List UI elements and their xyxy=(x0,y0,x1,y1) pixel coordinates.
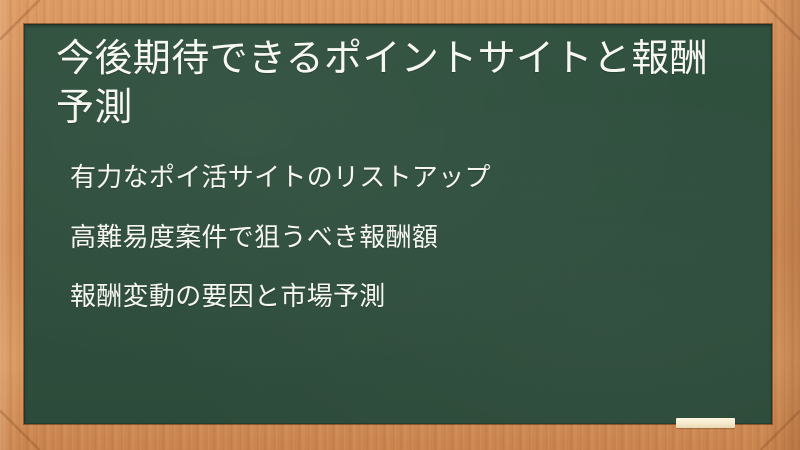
chalkboard-surface: 今後期待できるポイントサイトと報酬予測 有力なポイ活サイトのリストアップ 高難易… xyxy=(24,24,772,424)
slide-canvas: 今後期待できるポイントサイトと報酬予測 有力なポイ活サイトのリストアップ 高難易… xyxy=(0,0,800,450)
slide-title: 今後期待できるポイントサイトと報酬予測 xyxy=(36,34,746,133)
slide-content: 今後期待できるポイントサイトと報酬予測 有力なポイ活サイトのリストアップ 高難易… xyxy=(24,24,772,424)
list-item: 高難易度案件で狙うべき報酬額 xyxy=(70,223,746,255)
bullet-list: 有力なポイ活サイトのリストアップ 高難易度案件で狙うべき報酬額 報酬変動の要因と… xyxy=(36,163,746,314)
chalk-stick-icon xyxy=(676,418,735,428)
list-item: 報酬変動の要因と市場予測 xyxy=(70,282,746,314)
list-item: 有力なポイ活サイトのリストアップ xyxy=(70,163,746,195)
